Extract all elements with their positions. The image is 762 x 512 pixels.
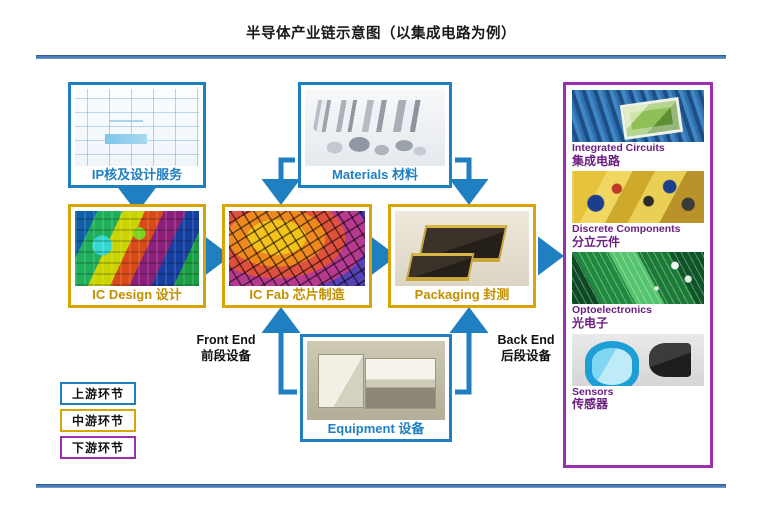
product-name-cn: 集成电路 bbox=[572, 155, 704, 168]
sensor-devices-image bbox=[572, 334, 704, 386]
cpu-chip-image bbox=[572, 90, 704, 142]
product-item[interactable]: Discrete Components 分立元件 bbox=[572, 171, 704, 249]
node-ip-core-label: IP核及设计服务 bbox=[75, 166, 199, 183]
color-wafer-image bbox=[229, 211, 365, 286]
ip-core-schematic-image bbox=[75, 89, 199, 166]
node-materials[interactable]: Materials 材料 bbox=[298, 82, 452, 188]
product-item[interactable]: Sensors 传感器 bbox=[572, 334, 704, 412]
product-name-cn: 光电子 bbox=[572, 317, 704, 330]
dip-package-image bbox=[395, 211, 529, 286]
product-name-cn: 分立元件 bbox=[572, 236, 704, 249]
node-packaging-label: Packaging 封测 bbox=[395, 286, 529, 303]
node-materials-label: Materials 材料 bbox=[305, 166, 445, 183]
optical-fiber-image bbox=[572, 252, 704, 304]
divider-top bbox=[36, 55, 726, 59]
product-name-en: Integrated Circuits bbox=[572, 143, 704, 155]
product-item[interactable]: Integrated Circuits 集成电路 bbox=[572, 90, 704, 168]
label-front-end-cn: 前段设备 bbox=[166, 349, 286, 365]
downstream-products-panel[interactable]: Integrated Circuits 集成电路 Discrete Compon… bbox=[563, 82, 713, 468]
product-item[interactable]: Optoelectronics 光电子 bbox=[572, 252, 704, 330]
pcb-components-image bbox=[572, 171, 704, 223]
chip-layout-image bbox=[75, 211, 199, 286]
silicon-ingot-wafer-image bbox=[305, 89, 445, 166]
label-front-end: Front End 前段设备 bbox=[166, 333, 286, 364]
wire-materials-to-packaging bbox=[455, 160, 469, 190]
page-title: 半导体产业链示意图（以集成电路为例） bbox=[0, 22, 762, 43]
wire-materials-to-icfab bbox=[281, 160, 295, 190]
node-ip-core[interactable]: IP核及设计服务 bbox=[68, 82, 206, 188]
legend-item-midstream[interactable]: 中游环节 bbox=[60, 409, 136, 432]
node-ic-design[interactable]: IC Design 设计 bbox=[68, 204, 206, 308]
divider-bottom bbox=[36, 484, 726, 488]
fab-equipment-image bbox=[307, 341, 445, 420]
node-equipment-label: Equipment 设备 bbox=[307, 420, 445, 437]
node-ic-fab[interactable]: IC Fab 芯片制造 bbox=[222, 204, 372, 308]
node-ic-design-label: IC Design 设计 bbox=[75, 286, 199, 303]
node-ic-fab-label: IC Fab 芯片制造 bbox=[229, 286, 365, 303]
diagram-canvas: 半导体产业链示意图（以集成电路为例） bbox=[0, 0, 762, 512]
legend-item-upstream[interactable]: 上游环节 bbox=[60, 382, 136, 405]
label-front-end-en: Front End bbox=[166, 333, 286, 349]
node-packaging[interactable]: Packaging 封测 bbox=[388, 204, 536, 308]
legend: 上游环节 中游环节 下游环节 bbox=[60, 382, 136, 459]
legend-item-downstream[interactable]: 下游环节 bbox=[60, 436, 136, 459]
product-name-cn: 传感器 bbox=[572, 398, 704, 411]
node-equipment[interactable]: Equipment 设备 bbox=[300, 334, 452, 442]
